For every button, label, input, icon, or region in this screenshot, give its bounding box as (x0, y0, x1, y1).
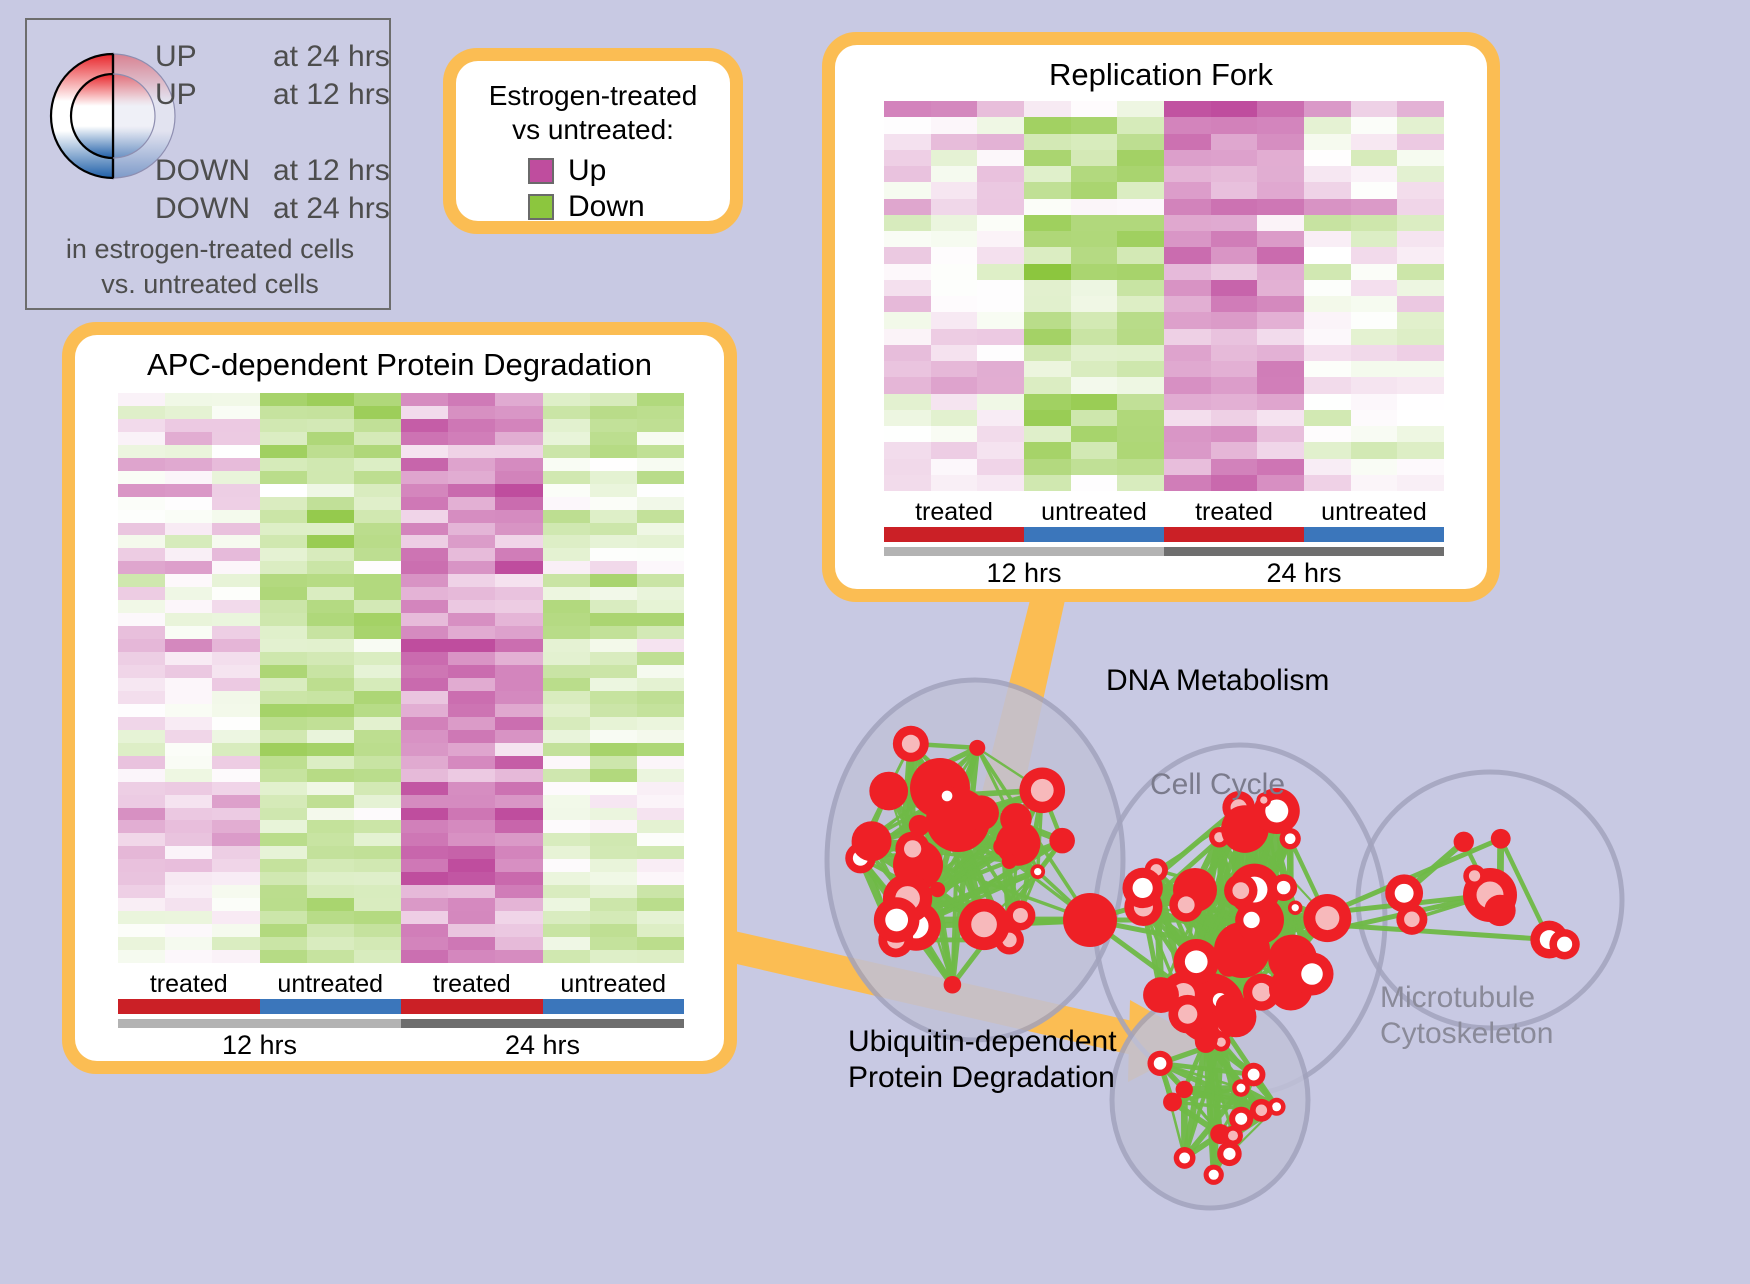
heatmap-cell (307, 393, 354, 406)
heatmap-cell (590, 704, 637, 717)
heatmap-cell (590, 432, 637, 445)
heatmap-cell (165, 626, 212, 639)
heatmap-cell (354, 691, 401, 704)
heatmap-cell (637, 626, 684, 639)
time-bar-12hrs (118, 1019, 401, 1028)
heatmap-cell (212, 937, 259, 950)
heatmap-cell (1164, 182, 1211, 198)
heatmap-cell (307, 937, 354, 950)
heatmap-cell (1071, 182, 1118, 198)
treatment-color-bar (884, 527, 1444, 542)
heatmap-cell (401, 911, 448, 924)
heatmap-cell (495, 678, 542, 691)
cluster-label-line: Protein Degradation (848, 1060, 1117, 1096)
heatmap-cell (448, 678, 495, 691)
heatmap-cell (401, 613, 448, 626)
heatmap-cell (977, 296, 1024, 312)
heatmap-cell (590, 795, 637, 808)
heatmap-cell (1257, 182, 1304, 198)
heatmap-cell (165, 924, 212, 937)
heatmap-cell (590, 458, 637, 471)
heatmap-cell (590, 510, 637, 523)
heatmap-cell (543, 717, 590, 730)
color-key-footnote-line1: in estrogen-treated cells (27, 232, 393, 267)
heatmap-cell (212, 639, 259, 652)
heatmap-cell (118, 743, 165, 756)
heatmap-cell (495, 885, 542, 898)
heatmap-cell (931, 345, 978, 361)
heatmap-cell (1304, 134, 1351, 150)
heatmap-cell (637, 717, 684, 730)
heatmap-cell (354, 769, 401, 782)
timepoint-color-bar (884, 547, 1444, 556)
network-node (869, 772, 908, 811)
heatmap-cell (1211, 117, 1258, 133)
time-label: 24 hrs (401, 1028, 684, 1061)
heatmap-cell (590, 743, 637, 756)
heatmap-cell (1164, 426, 1211, 442)
heatmap-cell (260, 833, 307, 846)
heatmap-cell (637, 691, 684, 704)
network-node-core (1185, 950, 1208, 973)
heatmap-cell (977, 166, 1024, 182)
heatmap-cell (931, 475, 978, 491)
heatmap-cell (260, 756, 307, 769)
heatmap-cell (1024, 475, 1071, 491)
network-node-core (1031, 779, 1054, 802)
heatmap-cell (1211, 394, 1258, 410)
heatmap-cell (165, 393, 212, 406)
network-node-core (1216, 1037, 1225, 1046)
heatmap-cell (1351, 166, 1398, 182)
untreated-bar (543, 999, 685, 1014)
heatmap-cell (1304, 215, 1351, 231)
heatmap-cell (1164, 410, 1211, 426)
network-node (1176, 1081, 1193, 1098)
heatmap-cell (1351, 280, 1398, 296)
heatmap-cell (354, 937, 401, 950)
heatmap-cell (165, 808, 212, 821)
timepoint-color-bar (118, 1019, 684, 1028)
heatmap-cell (1351, 296, 1398, 312)
heatmap-cell (931, 377, 978, 393)
heatmap-cell (1304, 296, 1351, 312)
heatmap-cell (590, 406, 637, 419)
heatmap-cell (495, 782, 542, 795)
heatmap-cell (590, 717, 637, 730)
heatmap-cell (1211, 377, 1258, 393)
heatmap-cell (118, 419, 165, 432)
heatmap-cell (543, 756, 590, 769)
heatmap-cell (260, 523, 307, 536)
heatmap-cell (165, 795, 212, 808)
heatmap-cell (590, 587, 637, 600)
heatmap-cell (1071, 215, 1118, 231)
heatmap-cell (165, 406, 212, 419)
heatmap-cell (260, 535, 307, 548)
heatmap-cell (1164, 345, 1211, 361)
heatmap-cell (212, 872, 259, 885)
color-key-legend: UPat 24 hrs UPat 12 hrs DOWNat 12 hrs DO… (25, 18, 391, 310)
heatmap-cell (495, 574, 542, 587)
heatmap-cell (1117, 442, 1164, 458)
heatmap-cell (354, 678, 401, 691)
heatmap-cell (212, 600, 259, 613)
heatmap-cell (590, 782, 637, 795)
heatmap-cell (543, 743, 590, 756)
heatmap-cell (307, 535, 354, 548)
heatmap-cell (1351, 231, 1398, 247)
heatmap-cell (307, 756, 354, 769)
heatmap-cell (118, 820, 165, 833)
heatmap-cell (1164, 296, 1211, 312)
cluster-label-cell-cycle: Cell Cycle (1150, 768, 1285, 802)
heatmap-cell (354, 782, 401, 795)
heatmap-cell (495, 808, 542, 821)
heatmap-cell (212, 419, 259, 432)
heatmap-cell (307, 769, 354, 782)
heatmap-cell (212, 820, 259, 833)
heatmap-cell (307, 717, 354, 730)
heatmap-cell (637, 833, 684, 846)
heatmap-cell (637, 613, 684, 626)
network-node-core (1223, 1148, 1235, 1160)
network-node-core (1469, 870, 1480, 881)
group-label: treated (884, 497, 1024, 527)
heatmap-cell (590, 445, 637, 458)
heatmap-cell (637, 484, 684, 497)
heatmap-cell (590, 600, 637, 613)
network-node (964, 795, 999, 830)
heatmap-cell (212, 432, 259, 445)
treatment-color-bar (118, 999, 684, 1014)
cluster-label-line: Ubiquitin-dependent (848, 1024, 1117, 1060)
color-key-row: DOWNat 12 hrs (155, 152, 391, 190)
network-node (1454, 832, 1474, 852)
heatmap-cell (401, 717, 448, 730)
heatmap-cell (212, 458, 259, 471)
heatmap-cell (212, 898, 259, 911)
heatmap-cell (307, 574, 354, 587)
heatmap-cell (637, 704, 684, 717)
heatmap-cell (590, 523, 637, 536)
heatmap-cell (307, 872, 354, 885)
heatmap-cell (118, 432, 165, 445)
heatmap-cell (637, 820, 684, 833)
heatmap-cell (637, 652, 684, 665)
heatmap-cell (543, 600, 590, 613)
heatmap-cell (931, 182, 978, 198)
heatmap-cell (260, 432, 307, 445)
heatmap-cell (931, 117, 978, 133)
heatmap-cell (307, 885, 354, 898)
heatmap-cell (448, 561, 495, 574)
heatmap-cell (637, 756, 684, 769)
heatmap-cell (637, 535, 684, 548)
heatmap-cell (118, 885, 165, 898)
heatmap-cell (307, 445, 354, 458)
heatmap-cell (1211, 264, 1258, 280)
heatmap-cell (495, 820, 542, 833)
heatmap-cell (448, 911, 495, 924)
heatmap-cell (212, 652, 259, 665)
cluster-label-microtubule-cytoskeleton: MicrotubuleCytoskeleton (1380, 980, 1553, 1052)
heatmap-cell (931, 134, 978, 150)
heatmap-cell (448, 432, 495, 445)
heatmap-cell (260, 445, 307, 458)
heatmap-cell (354, 911, 401, 924)
heatmap-cell (1397, 117, 1444, 133)
heatmap-cell (1351, 394, 1398, 410)
heatmap-cell (118, 548, 165, 561)
heatmap-cell (977, 215, 1024, 231)
heatmap-cell (448, 445, 495, 458)
heatmap-cell (401, 445, 448, 458)
network-node (1049, 828, 1075, 854)
heatmap-cell (1397, 264, 1444, 280)
heatmap-cell (401, 665, 448, 678)
heatmap-cell (543, 665, 590, 678)
heatmap-cell (165, 820, 212, 833)
heatmap-cell (354, 898, 401, 911)
heatmap-cell (448, 639, 495, 652)
heatmap-cell (1024, 345, 1071, 361)
network-node (1063, 893, 1117, 947)
network-node-core (1154, 1057, 1167, 1070)
heatmap-cell (401, 859, 448, 872)
heatmap-cell (448, 665, 495, 678)
heatmap-cell (1024, 199, 1071, 215)
heatmap-cell (118, 665, 165, 678)
function-network: DNA Metabolism Cell Cycle MicrotubuleCyt… (790, 620, 1750, 1279)
heatmap-cell (448, 756, 495, 769)
heatmap-cell (1351, 426, 1398, 442)
heatmap-cell (884, 329, 931, 345)
heatmap-cell (212, 587, 259, 600)
heatmap-cell (354, 613, 401, 626)
heatmap-cell (165, 743, 212, 756)
heatmap-cell (118, 574, 165, 587)
heatmap-cell (212, 859, 259, 872)
color-key-spacer (155, 114, 391, 152)
network-node-core (1232, 882, 1249, 899)
heatmap-cell (543, 587, 590, 600)
heatmap-cell (1071, 329, 1118, 345)
heatmap-cell (1351, 361, 1398, 377)
heatmap-cell (354, 445, 401, 458)
heatmap-cell (307, 639, 354, 652)
heatmap-cell (401, 419, 448, 432)
heatmap-cell (165, 872, 212, 885)
heatmap-cell (401, 924, 448, 937)
heatmap-cell (260, 678, 307, 691)
heatmap-cell (307, 406, 354, 419)
heatmap-cell (1397, 394, 1444, 410)
network-node-core (1395, 884, 1414, 903)
heatmap-cell (448, 497, 495, 510)
heatmap-cell (212, 911, 259, 924)
heatmap-cell (1304, 231, 1351, 247)
heatmap-cell (884, 410, 931, 426)
heatmap-cell (260, 743, 307, 756)
heatmap-cell (543, 795, 590, 808)
heatmap-cell (1397, 215, 1444, 231)
network-node-core (1235, 1113, 1247, 1125)
heatmap-cell (1164, 199, 1211, 215)
heatmap-cell (260, 820, 307, 833)
panel-title: Replication Fork (835, 57, 1487, 93)
color-key-state: UP (155, 76, 273, 114)
heatmap-cell (401, 898, 448, 911)
network-node-core (942, 791, 953, 802)
heatmap-cell (931, 296, 978, 312)
heatmap-cell (307, 691, 354, 704)
heatmap-cell (448, 924, 495, 937)
heatmap-cell (543, 406, 590, 419)
heatmap-cell (1211, 150, 1258, 166)
heatmap-cell (977, 361, 1024, 377)
heatmap-cell (1257, 394, 1304, 410)
heatmap-cell (1164, 150, 1211, 166)
heatmap-cell (448, 393, 495, 406)
heatmap-cell (354, 561, 401, 574)
heatmap-cell (637, 497, 684, 510)
heatmap-cell (884, 101, 931, 117)
heatmap-cell (590, 535, 637, 548)
heatmap-cell (884, 166, 931, 182)
color-key-time: at 12 hrs (273, 76, 391, 114)
heatmap-cell (977, 312, 1024, 328)
heatmap-cell (401, 406, 448, 419)
heatmap-cell (1304, 312, 1351, 328)
heatmap-cell (165, 510, 212, 523)
heatmap-cell (165, 950, 212, 963)
heatmap-cell (637, 471, 684, 484)
heatmap-cell (543, 639, 590, 652)
heatmap-cell (212, 406, 259, 419)
heatmap-cell (260, 898, 307, 911)
heatmap-cell (543, 626, 590, 639)
heatmap-cell (118, 484, 165, 497)
heatmap-cell (307, 795, 354, 808)
heatmap-cell (1351, 101, 1398, 117)
heatmap-cell (590, 885, 637, 898)
heatmap-cell (543, 535, 590, 548)
heatmap-cell (401, 497, 448, 510)
heatmap-cell (590, 808, 637, 821)
treated-bar (884, 527, 1024, 542)
network-node-core (1252, 983, 1270, 1001)
heatmap-cell (977, 394, 1024, 410)
heatmap-cell (1397, 475, 1444, 491)
heatmap-cell (165, 587, 212, 600)
heatmap-cell (401, 820, 448, 833)
heatmap-cell (1211, 166, 1258, 182)
heatmap-cell (977, 345, 1024, 361)
heatmap-cell (1304, 345, 1351, 361)
heatmap-cell (448, 743, 495, 756)
heatmap-cell (1071, 345, 1118, 361)
heatmap-cell (1117, 394, 1164, 410)
cluster-label-ubiquitin-degradation: Ubiquitin-dependentProtein Degradation (848, 1024, 1117, 1096)
heatmap-cell (118, 937, 165, 950)
heatmap-cell (1117, 117, 1164, 133)
heatmap-cell (495, 652, 542, 665)
heatmap-cell (401, 393, 448, 406)
heatmap-cell (354, 717, 401, 730)
heatmap-cell (354, 626, 401, 639)
heatmap-cell (1351, 215, 1398, 231)
cluster-label-dna-metabolism: DNA Metabolism (1106, 664, 1329, 698)
heatmap-cell (401, 548, 448, 561)
heatmap-cell (448, 458, 495, 471)
heatmap-cell (543, 574, 590, 587)
heatmap-cell (1117, 247, 1164, 263)
heatmap-cell (590, 626, 637, 639)
heatmap-cell (165, 419, 212, 432)
heatmap-cell (637, 924, 684, 937)
time-label: 12 hrs (884, 556, 1164, 589)
heatmap-cell (118, 756, 165, 769)
heatmap-cell (1304, 361, 1351, 377)
heatmap-cell (354, 406, 401, 419)
network-node-core (1133, 878, 1153, 898)
heatmap-cell (1024, 166, 1071, 182)
group-label: treated (401, 969, 543, 999)
heatmap-cell (165, 561, 212, 574)
heatmap-cell (307, 497, 354, 510)
heatmap-cell (401, 730, 448, 743)
network-node-core (1013, 908, 1028, 923)
heatmap-cell (1351, 312, 1398, 328)
heatmap-cell (354, 484, 401, 497)
heatmap-cell (590, 484, 637, 497)
network-node (1484, 895, 1515, 926)
heatmap-cell (1397, 329, 1444, 345)
heatmap-cell (212, 393, 259, 406)
heatmap-cell (1304, 280, 1351, 296)
heatmap-cell (260, 769, 307, 782)
heatmap-cell (1397, 377, 1444, 393)
heatmap-cell (212, 535, 259, 548)
heatmap-cell (354, 730, 401, 743)
heatmap-cell (1117, 150, 1164, 166)
heatmap-cell (1304, 117, 1351, 133)
heatmap-cell (1024, 296, 1071, 312)
heatmap-cell (401, 639, 448, 652)
heatmap-cell (448, 846, 495, 859)
heatmap-cell (118, 497, 165, 510)
network-node-core (1404, 912, 1420, 928)
heatmap-cell (495, 756, 542, 769)
heatmap-cell (1211, 296, 1258, 312)
heatmap-cell (1164, 166, 1211, 182)
heatmap-cell (212, 846, 259, 859)
heatmap-cell (590, 872, 637, 885)
heatmap-cell (1024, 231, 1071, 247)
heatmap-cell (1117, 361, 1164, 377)
heatmap-cell (1257, 117, 1304, 133)
heatmap-cell (307, 730, 354, 743)
heatmap-cell (354, 393, 401, 406)
heatmap-cell (118, 678, 165, 691)
heatmap-cell (931, 247, 978, 263)
heatmap-cell (495, 626, 542, 639)
heatmap-cell (495, 523, 542, 536)
heatmap-cell (1211, 345, 1258, 361)
heatmap-cell (543, 561, 590, 574)
heatmap-cell (212, 678, 259, 691)
